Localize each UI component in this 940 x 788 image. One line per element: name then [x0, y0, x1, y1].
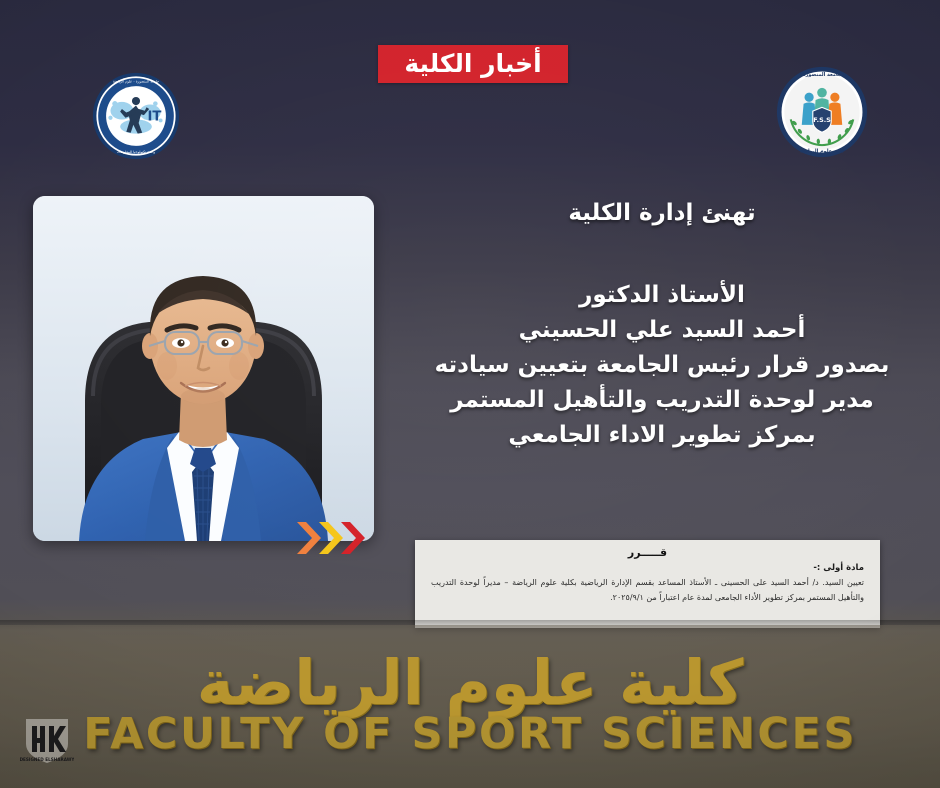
svg-text:DESIGNED ELSHARAWY: DESIGNED ELSHARAWY [20, 757, 74, 762]
message-line-6: بمركز تطوير الاداء الجامعي [392, 418, 932, 453]
message-line-2: الأستاذ الدكتور [392, 278, 932, 313]
chevron-arrows-icon [295, 519, 373, 557]
congratulation-message: تهنئ إدارة الكلية الأستاذ الدكتور أحمد ا… [392, 196, 932, 453]
svg-text:كلية علوم الرياضة: كلية علوم الرياضة [800, 148, 844, 154]
wall-band [0, 625, 940, 788]
message-line-5: مدير لوحدة التدريب والتأهيل المستمر [392, 383, 932, 418]
decree-document-snippet: قـــــرر مادة أولى :- تعيين السيد. د/ أح… [415, 540, 880, 628]
news-banner: أخبار الكلية [378, 45, 568, 83]
svg-text:F.S.S: F.S.S [813, 116, 831, 124]
message-line-3: أحمد السيد علي الحسيني [392, 313, 932, 348]
news-banner-label: أخبار الكلية [404, 51, 541, 76]
decree-title: قـــــرر [431, 546, 864, 559]
portrait-photo [33, 196, 374, 541]
svg-text:جامعة المنصورة: جامعة المنصورة [803, 72, 842, 78]
message-line-4: بصدور قرار رئيس الجامعة بتعيين سيادته [392, 348, 932, 383]
message-line-1: تهنئ إدارة الكلية [392, 196, 932, 231]
designer-watermark-icon: DESIGNED ELSHARAWY [20, 716, 74, 766]
it-sport-logo: IT جامعة المنصورة - علوم الرياضة وحدة تك… [92, 72, 180, 160]
decree-article-label: مادة أولى :- [431, 563, 864, 573]
decree-body-text: تعيين السيد. د/ أحمد السيد على الحسينى ـ… [431, 576, 864, 606]
svg-text:وحدة تكنولوجيا المعلومات: وحدة تكنولوجيا المعلومات [117, 150, 155, 154]
faculty-of-sport-sciences-logo: F.S.S جامعة المنصورة كلية علوم الرياضة [776, 66, 868, 158]
svg-text:IT: IT [148, 109, 162, 124]
news-poster: أخبار الكلية [0, 0, 940, 788]
message-spacer [392, 231, 932, 278]
